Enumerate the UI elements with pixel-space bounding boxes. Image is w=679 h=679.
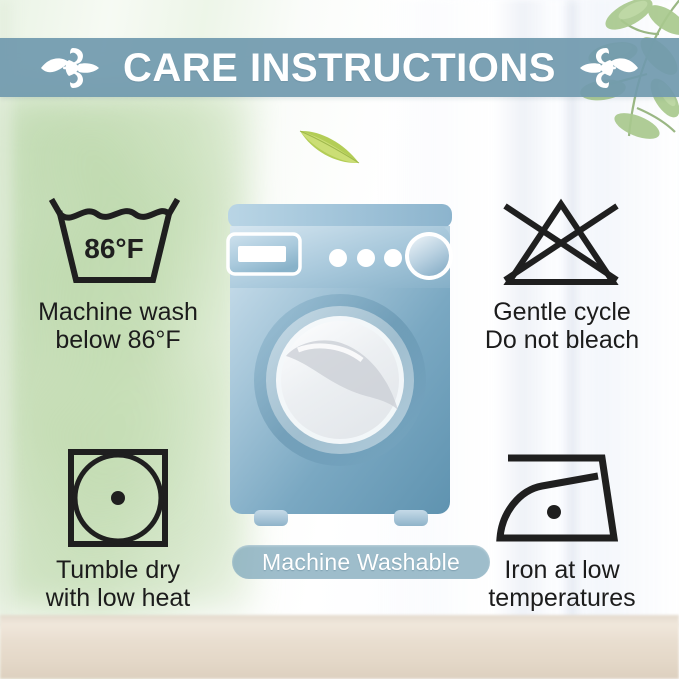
status-badge-label: Machine Washable xyxy=(262,551,460,574)
banner: CARE INSTRUCTIONS xyxy=(0,38,679,97)
triangle-crossed-icon xyxy=(487,196,637,292)
detergent-drawer-slot xyxy=(238,246,286,262)
control-dial[interactable] xyxy=(409,236,449,276)
machine-top xyxy=(228,204,452,228)
fleur-de-lis-icon xyxy=(39,46,101,90)
machine-foot xyxy=(394,510,428,526)
caption-iron: Iron at low temperatures xyxy=(488,556,635,612)
machine-foot xyxy=(254,510,288,526)
caption-machine-wash: Machine wash below 86°F xyxy=(38,298,198,354)
fleur-de-lis-icon xyxy=(578,46,640,90)
iron-icon xyxy=(492,446,632,550)
tumble-dry-icon xyxy=(63,446,173,550)
care-symbol-tumble-dry: Tumble dry with low heat xyxy=(8,446,228,612)
washing-machine-illustration xyxy=(226,200,454,535)
care-symbol-machine-wash: 86°F Machine wash below 86°F xyxy=(8,196,228,354)
status-badge: Machine Washable xyxy=(232,545,490,579)
care-symbol-iron: Iron at low temperatures xyxy=(452,446,672,612)
care-symbol-gentle-cycle-no-bleach: Gentle cycle Do not bleach xyxy=(452,196,672,354)
page-title: CARE INSTRUCTIONS xyxy=(123,48,556,88)
care-instructions-infographic: CARE INSTRUCTIONS 86°F Machine wash belo… xyxy=(0,0,679,679)
wash-tub-icon: 86°F xyxy=(43,196,193,292)
caption-tumble-dry: Tumble dry with low heat xyxy=(46,556,191,612)
indicator-dot[interactable] xyxy=(384,249,402,267)
wash-temperature-value: 86°F xyxy=(84,233,143,264)
indicator-dot[interactable] xyxy=(329,249,347,267)
wooden-table-surface xyxy=(0,615,679,679)
caption-gentle-cycle: Gentle cycle Do not bleach xyxy=(485,298,639,354)
indicator-dot[interactable] xyxy=(357,249,375,267)
